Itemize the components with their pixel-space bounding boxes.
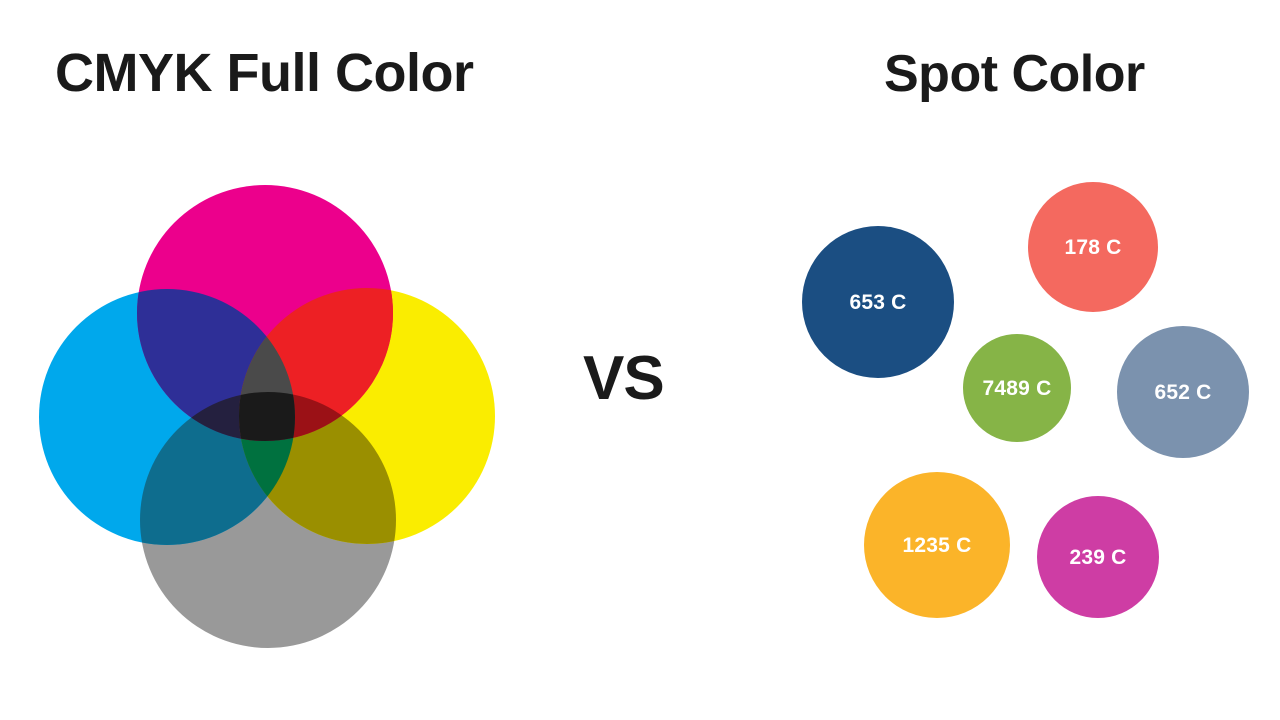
- spot-panel-title: Spot Color: [884, 48, 1145, 100]
- spot-swatch-239c[interactable]: 239 C: [1037, 496, 1159, 618]
- spot-swatch-label: 1235 C: [903, 535, 972, 556]
- spot-swatch-label: 7489 C: [983, 378, 1052, 399]
- spot-swatch-653c[interactable]: 653 C: [802, 226, 954, 378]
- spot-swatch-652c[interactable]: 652 C: [1117, 326, 1249, 458]
- spot-swatch-label: 652 C: [1154, 382, 1211, 403]
- spot-swatch-7489c[interactable]: 7489 C: [963, 334, 1071, 442]
- cmyk-venn-svg: [20, 160, 520, 680]
- vs-separator-label: VS: [583, 348, 664, 410]
- spot-swatch-label: 239 C: [1069, 547, 1126, 568]
- spot-swatch-1235c[interactable]: 1235 C: [864, 472, 1010, 618]
- spot-swatch-label: 178 C: [1064, 237, 1121, 258]
- spot-swatch-label: 653 C: [849, 292, 906, 313]
- diagram-canvas: CMYK Full Color Spot Color VS: [0, 0, 1280, 720]
- cmyk-panel-title: CMYK Full Color: [55, 46, 473, 100]
- cmyk-venn-diagram: [20, 160, 520, 680]
- spot-swatch-178c[interactable]: 178 C: [1028, 182, 1158, 312]
- spot-color-swatches: 653 C 178 C 7489 C 652 C 1235 C 239 C: [780, 160, 1280, 680]
